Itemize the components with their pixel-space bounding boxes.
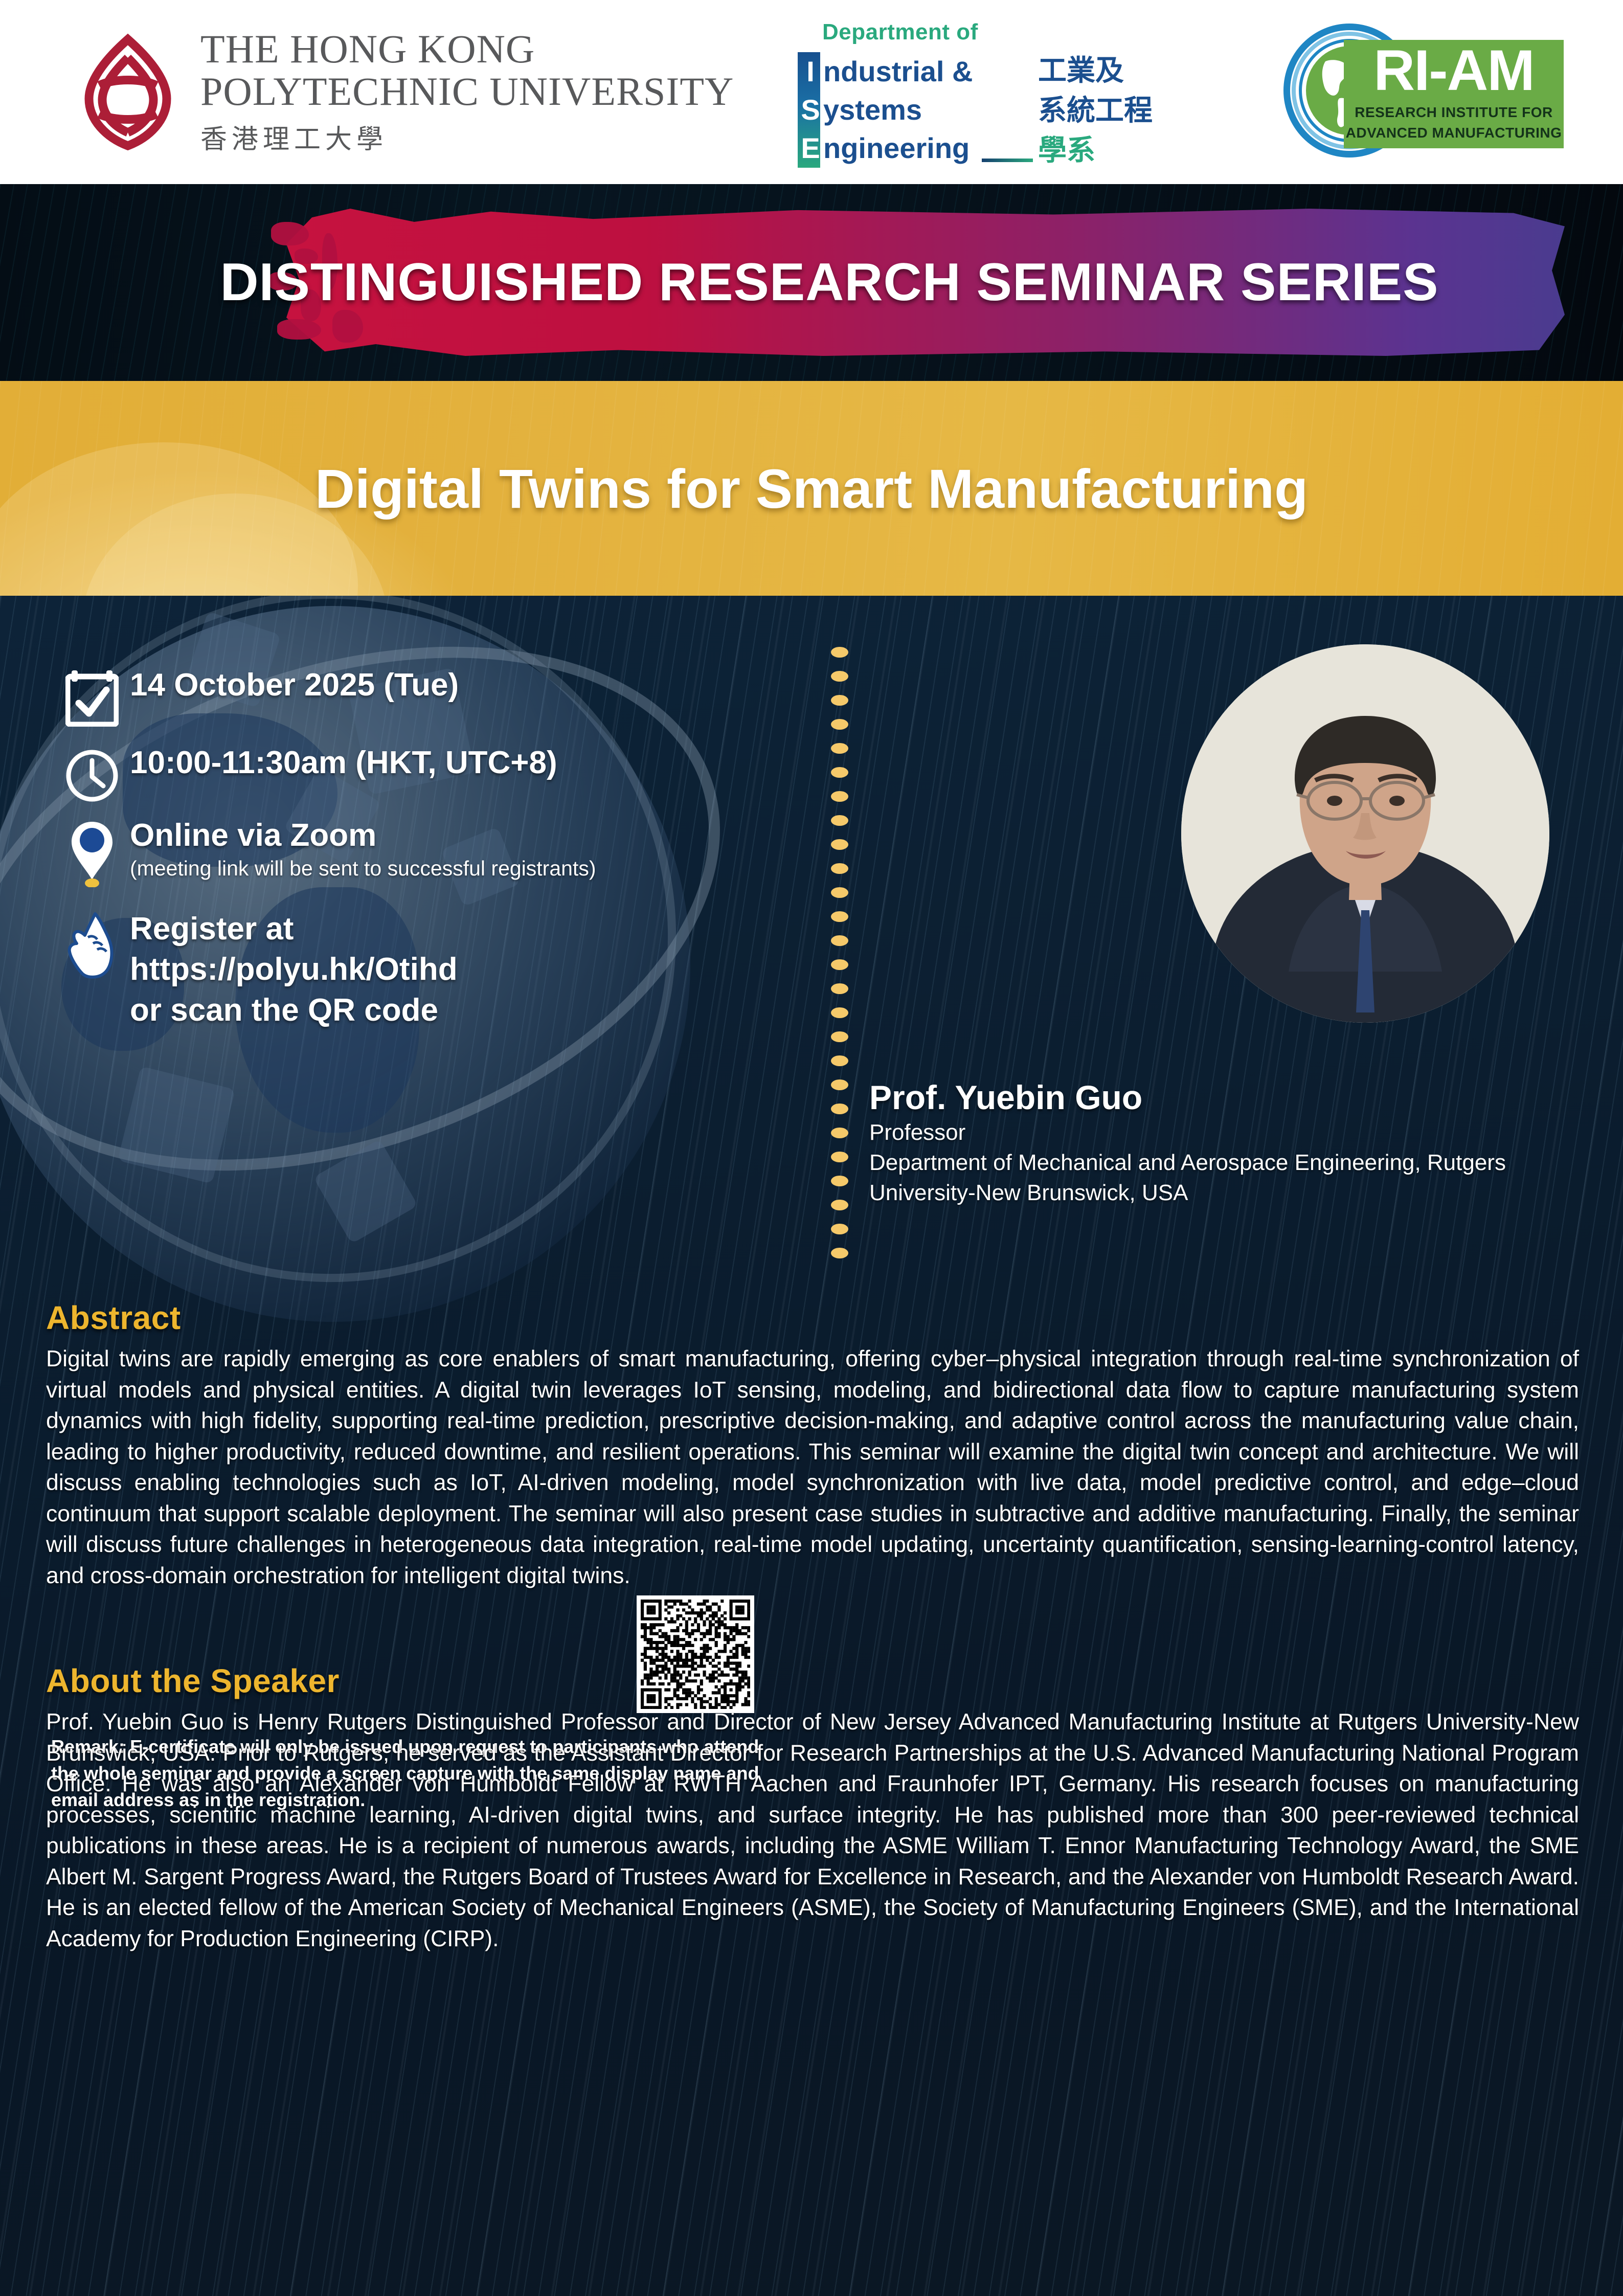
series-banner: DISTINGUISHED RESEARCH SEMINAR SERIES [0, 184, 1623, 381]
dotted-divider [831, 647, 848, 1281]
register-label: Register at [130, 909, 458, 949]
speaker-info: Prof. Yuebin Guo Professor Department of… [869, 1079, 1601, 1207]
logo-header-bar: THE HONG KONG POLYTECHNIC UNIVERSITY 香港理… [0, 0, 1623, 184]
abstract-body: Digital twins are rapidly emerging as co… [46, 1344, 1579, 1591]
event-date-row: 14 October 2025 (Tue) [61, 667, 772, 727]
speaker-name: Prof. Yuebin Guo [869, 1079, 1601, 1116]
event-date-text: 14 October 2025 (Tue) [130, 667, 459, 703]
event-register-row[interactable]: Register at https://polyu.hk/Otihd or sc… [61, 909, 772, 1030]
polyu-name-line2: POLYTECHNIC UNIVERSITY [200, 71, 734, 113]
ise-department-of-label: Department of [822, 19, 978, 45]
riam-title: RI-AM [1344, 42, 1564, 99]
speaker-affiliation-line2: University-New Brunswick, USA [869, 1179, 1601, 1207]
event-details-list: 14 October 2025 (Tue) 10:00-11:30am (HKT… [61, 667, 772, 1049]
ise-letter-s: S [800, 91, 821, 129]
ise-letter-i: I [800, 52, 821, 91]
register-qr-hint: or scan the QR code [130, 990, 458, 1030]
riam-subtitle-line2: ADVANCED MANUFACTURING [1344, 125, 1564, 141]
ise-chinese-stack: 工業及 系統工程 學系 [1038, 51, 1153, 171]
ise-chinese-line1: 工業及 [1038, 51, 1153, 91]
location-pin-icon [61, 818, 123, 887]
about-speaker-heading: About the Speaker [46, 1662, 1579, 1700]
event-venue-row: Online via Zoom (meeting link will be se… [61, 818, 772, 887]
ise-letter-e: E [800, 129, 821, 167]
series-banner-title: DISTINGUISHED RESEARCH SEMINAR SERIES [0, 184, 1623, 381]
ise-word-engineering: ngineering [823, 129, 973, 167]
pointing-hand-icon [61, 909, 123, 980]
seminar-title: Digital Twins for Smart Manufacturing [0, 381, 1623, 596]
about-speaker-body: Prof. Yuebin Guo is Henry Rutgers Distin… [46, 1707, 1579, 1954]
speaker-portrait-photo [1181, 644, 1549, 1023]
calendar-check-icon [61, 667, 123, 727]
event-time-text: 10:00-11:30am (HKT, UTC+8) [130, 745, 557, 780]
ise-word-industrial: ndustrial & [823, 52, 973, 91]
riam-logo: RI-AM RESEARCH INSTITUTE FOR ADVANCED MA… [1283, 14, 1570, 168]
event-time-row: 10:00-11:30am (HKT, UTC+8) [61, 745, 772, 802]
polyu-logo: THE HONG KONG POLYTECHNIC UNIVERSITY 香港理… [77, 28, 734, 156]
title-band: Digital Twins for Smart Manufacturing [0, 381, 1623, 596]
ise-chinese-line2: 系統工程 [1038, 91, 1153, 131]
abstract-section: Abstract Digital twins are rapidly emerg… [46, 1299, 1579, 1591]
event-venue-text: Online via Zoom [130, 818, 596, 853]
ise-divider-dash [982, 159, 1033, 162]
poster-body: 14 October 2025 (Tue) 10:00-11:30am (HKT… [0, 596, 1623, 2296]
polyu-name-chinese: 香港理工大學 [200, 118, 734, 156]
ise-word-systems: ystems [823, 91, 973, 129]
about-speaker-section: About the Speaker Prof. Yuebin Guo is He… [46, 1662, 1579, 1954]
riam-subtitle-line1: RESEARCH INSTITUTE FOR [1344, 104, 1564, 121]
seminar-poster: THE HONG KONG POLYTECHNIC UNIVERSITY 香港理… [0, 0, 1623, 2296]
polyu-knot-icon [77, 32, 179, 152]
ise-word-stack: ndustrial & ystems ngineering [823, 52, 973, 167]
ise-chinese-line3: 學系 [1038, 131, 1153, 171]
polyu-name-line1: THE HONG KONG [200, 28, 734, 71]
abstract-heading: Abstract [46, 1299, 1579, 1337]
speaker-title: Professor [869, 1118, 1601, 1146]
register-url[interactable]: https://polyu.hk/Otihd [130, 949, 458, 989]
speaker-affiliation-line1: Department of Mechanical and Aerospace E… [869, 1149, 1601, 1177]
ise-initial-letters: I S E [800, 52, 821, 168]
clock-icon [61, 745, 123, 802]
event-venue-note: (meeting link will be sent to successful… [130, 856, 596, 881]
riam-green-panel: RI-AM RESEARCH INSTITUTE FOR ADVANCED MA… [1344, 40, 1564, 148]
